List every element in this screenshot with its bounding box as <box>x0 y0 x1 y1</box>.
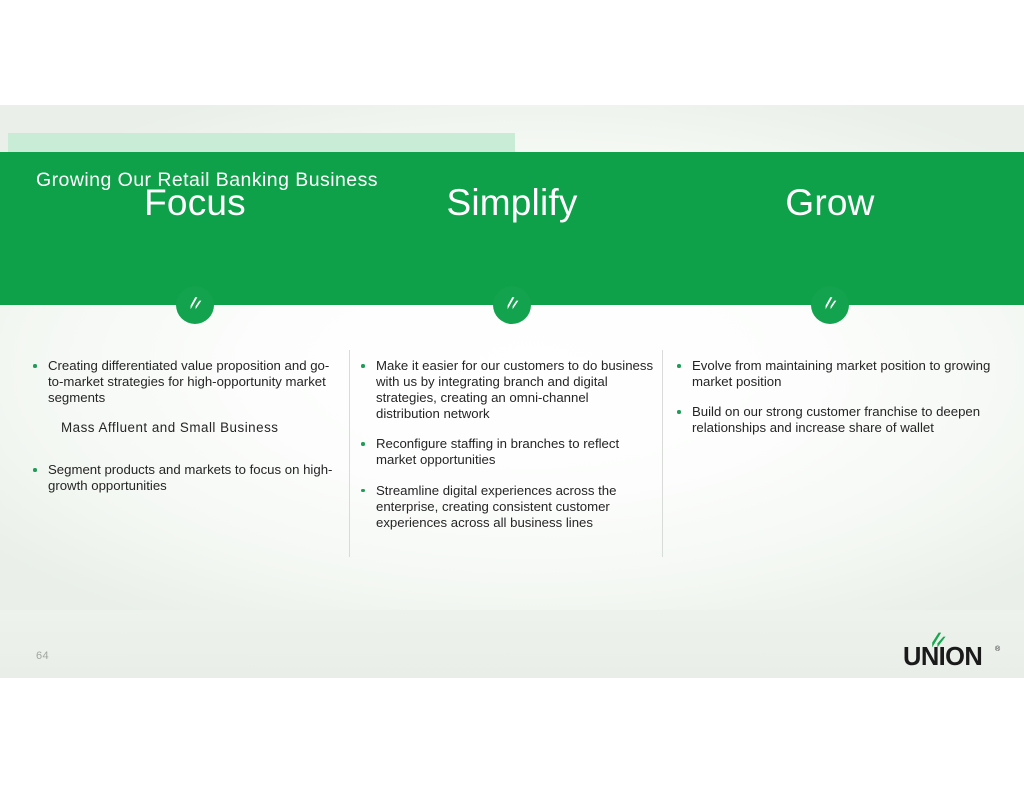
column-focus: Creating differentiated value propositio… <box>28 358 343 509</box>
pillar-heading-grow: Grow <box>785 177 874 229</box>
slide-canvas: Growing Our Retail Banking Business Focu… <box>0 105 1024 678</box>
list-item: Evolve from maintaining market position … <box>672 358 992 390</box>
list-item: Reconfigure staffing in branches to refl… <box>356 436 656 468</box>
column-grow: Evolve from maintaining market position … <box>672 358 992 450</box>
column-focus-subline: Mass Affluent and Small Business <box>28 420 343 436</box>
pillar-badge-grow <box>811 286 849 324</box>
list-item: Segment products and markets to focus on… <box>28 462 343 494</box>
pillar-badge-focus <box>176 286 214 324</box>
accent-bar <box>8 133 515 152</box>
pillar-heading-row: Focus Simplify Grow <box>0 177 1024 237</box>
pillar-heading-simplify: Simplify <box>446 177 577 229</box>
list-item: Build on our strong customer franchise t… <box>672 404 992 436</box>
list-item: Creating differentiated value propositio… <box>28 358 343 406</box>
pillar-badge-simplify <box>493 286 531 324</box>
footer-band <box>0 610 1024 678</box>
pillar-heading-focus: Focus <box>144 177 246 229</box>
union-logo-wordmark: UNION <box>903 645 982 671</box>
union-logo: UNION ® <box>903 632 1003 670</box>
list-item: Make it easier for our customers to do b… <box>356 358 656 422</box>
content-columns: Creating differentiated value propositio… <box>0 358 1024 578</box>
registered-trademark-icon: ® <box>995 646 1000 653</box>
column-simplify: Make it easier for our customers to do b… <box>356 358 656 545</box>
list-item: Streamline digital experiences across th… <box>356 483 656 531</box>
page-number: 64 <box>36 650 49 662</box>
